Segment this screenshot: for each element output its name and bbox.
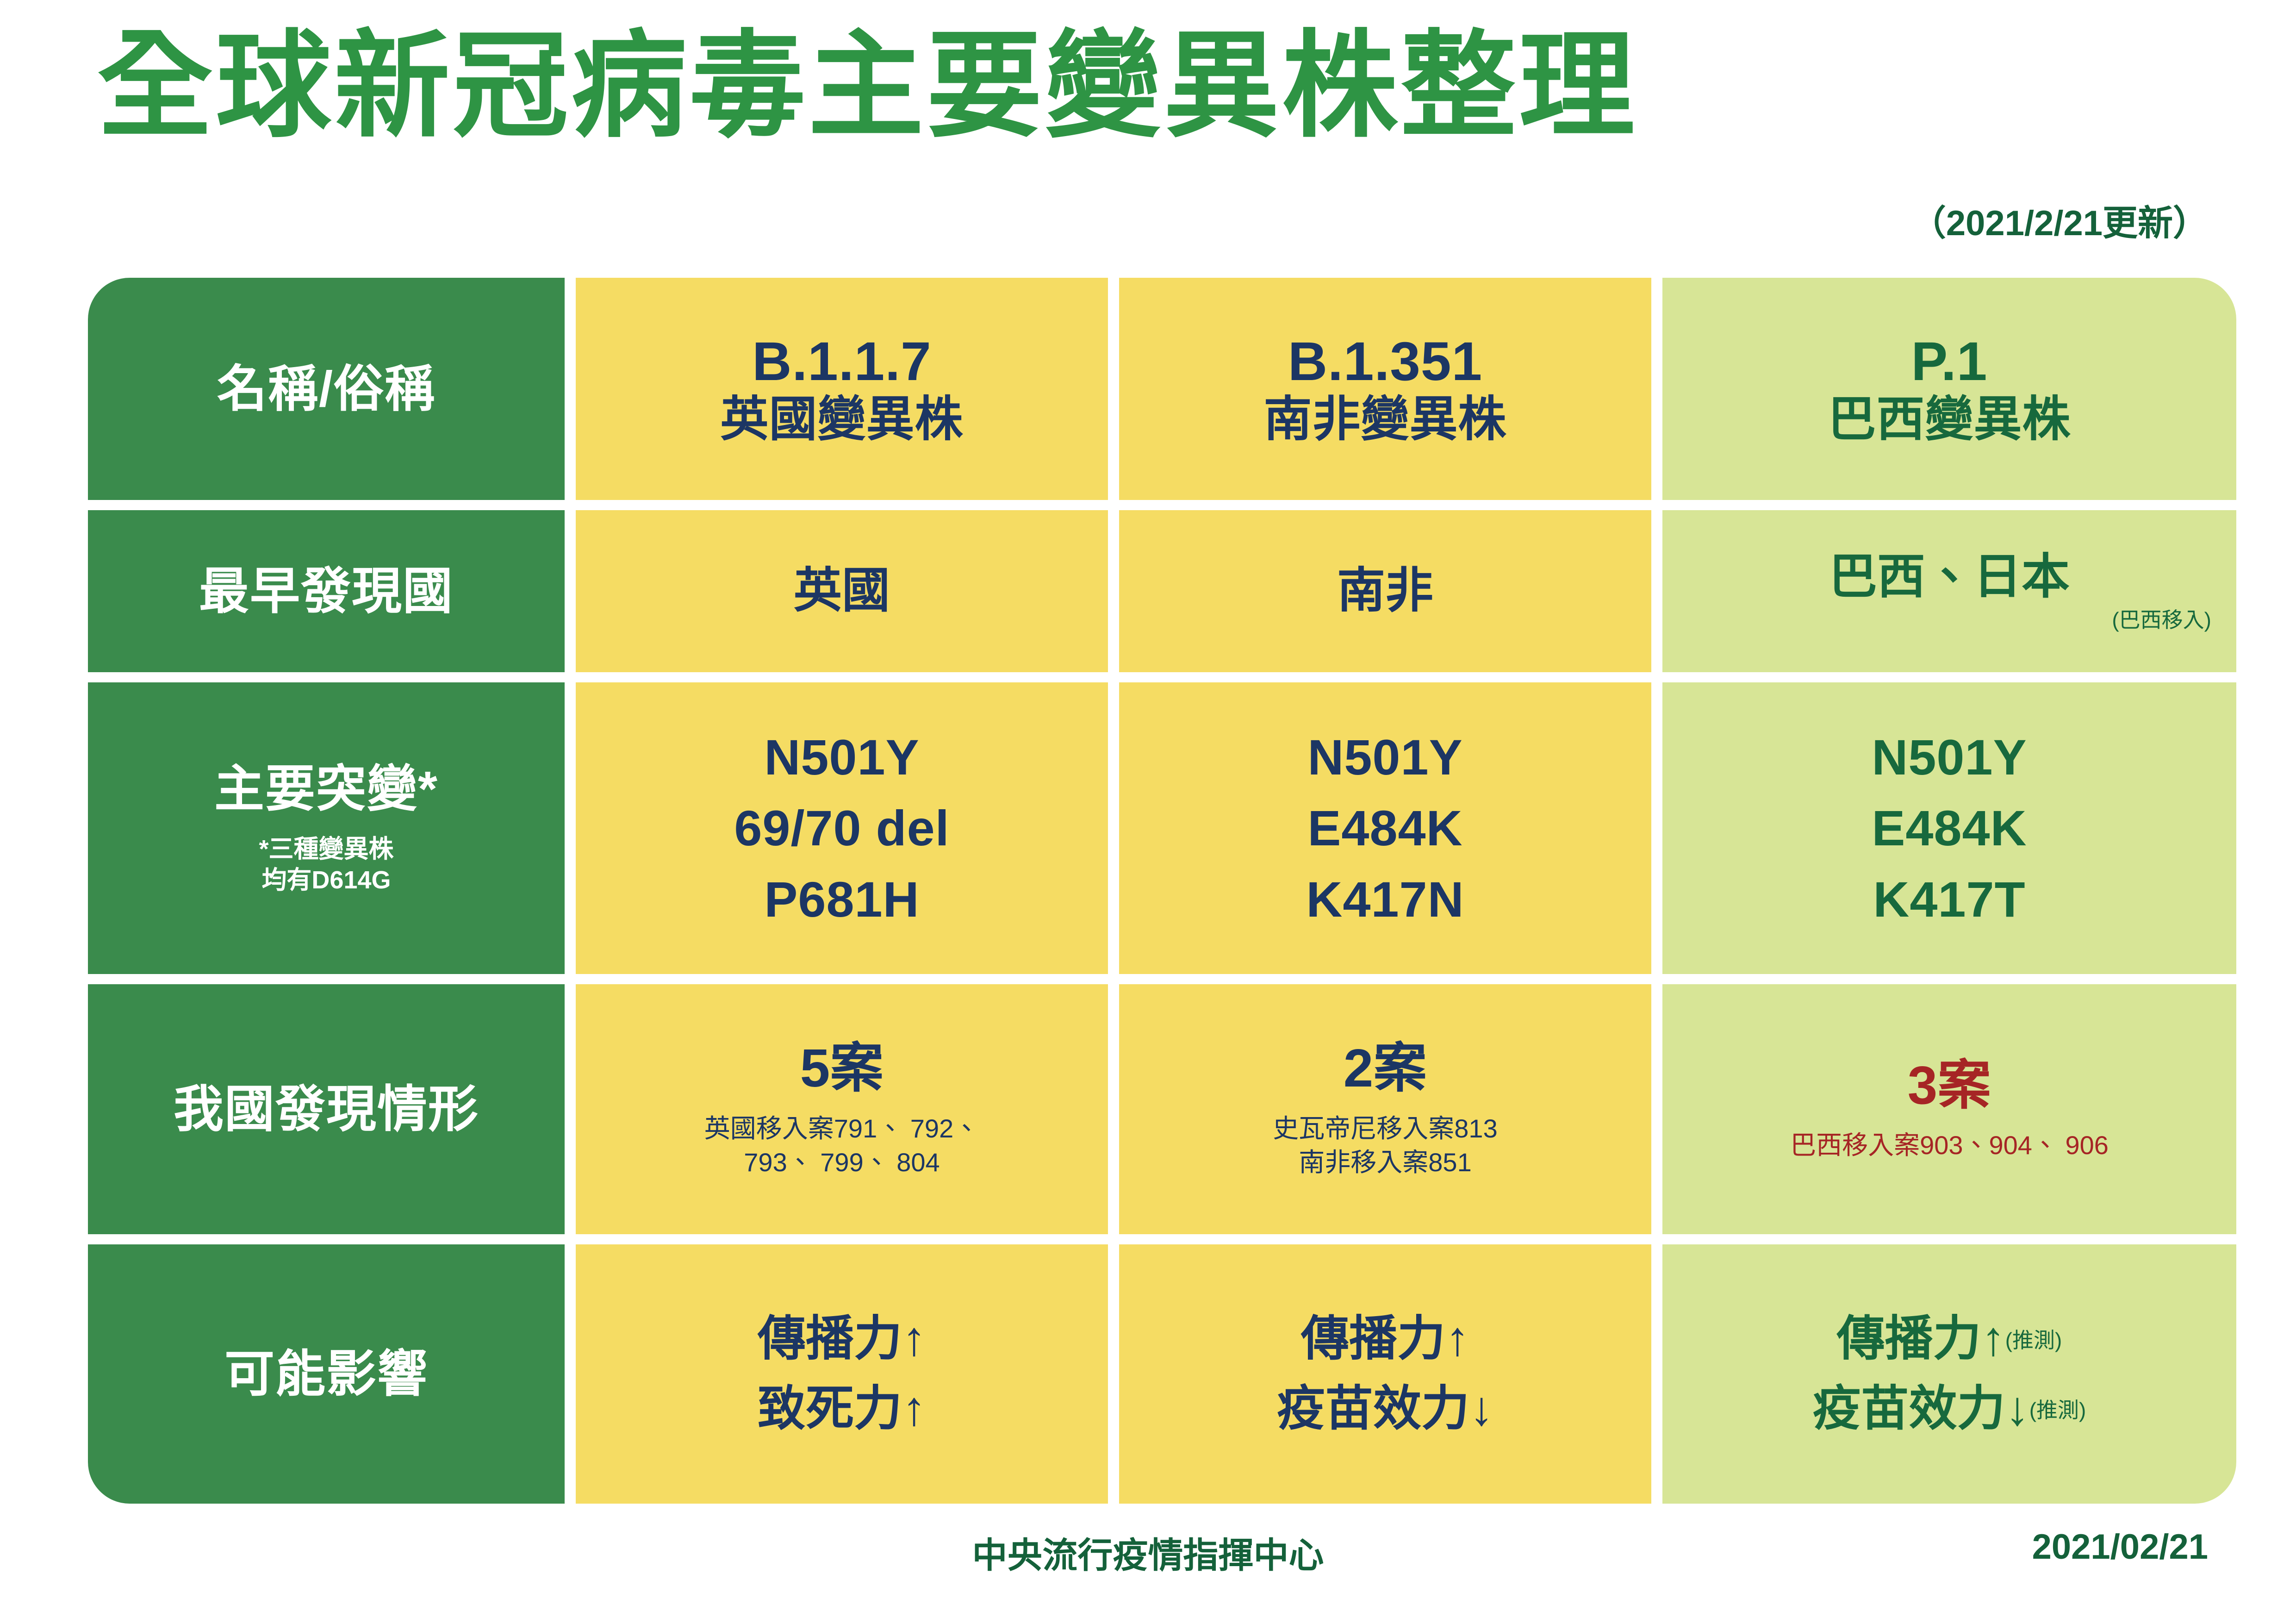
update-date-subtitle: （2021/2/21更新） (1911, 194, 2208, 245)
row-label-text: 名稱/俗稱 (217, 360, 436, 418)
row-label-impact: 可能影響 (88, 1244, 565, 1504)
issuing-organization: 中央流行疫情指揮中心 (0, 1527, 2296, 1578)
cell-mutations-b1351: N501YE484KK417N (1119, 682, 1651, 974)
cell-impact-b1351: 傳播力↑ 疫苗效力↓ (1119, 1244, 1651, 1504)
impact-line: 致死力↑ (758, 1374, 926, 1444)
arrow-up-icon: ↑ (1981, 1312, 2005, 1366)
case-count: 2案 (1344, 1039, 1427, 1098)
arrow-up-icon: ↑ (902, 1312, 926, 1366)
case-detail: 史瓦帝尼移入案813南非移入案851 (1273, 1112, 1497, 1180)
cell-impact-p1: 傳播力↑(推測) 疫苗效力↓(推測) (1662, 1244, 2236, 1504)
impact-text: 傳播力 (1837, 1312, 1981, 1366)
origin-country: 南非 (1337, 563, 1433, 619)
impact-line: 疫苗效力↓(推測) (1813, 1374, 2086, 1444)
case-detail: 英國移入案791、 792、793、 799、 804 (704, 1112, 979, 1180)
origin-country: 巴西、日本 (1829, 550, 2070, 605)
variant-alias: 英國變異株 (720, 392, 963, 447)
arrow-up-icon: ↑ (1445, 1312, 1469, 1366)
mutation-list: N501Y69/70 delP681H (734, 722, 949, 935)
impact-text: 疫苗效力 (1813, 1382, 2005, 1436)
cell-mutations-p1: N501YE484KK417T (1662, 682, 2236, 974)
infographic-page: 全球新冠病毒主要變異株整理 （2021/2/21更新） 名稱/俗稱 B.1.1.… (0, 0, 2296, 1624)
mutation-list: N501YE484KK417T (1872, 722, 2027, 935)
cell-impact-b117: 傳播力↑ 致死力↑ (576, 1244, 1108, 1504)
footer-date: 2021/02/21 (2032, 1527, 2208, 1567)
cell-cases-p1: 3案 巴西移入案903、904、 906 (1662, 984, 2236, 1234)
case-count: 3案 (1908, 1056, 1991, 1115)
variant-code: B.1.351 (1288, 331, 1482, 392)
cell-cases-b1351: 2案 史瓦帝尼移入案813南非移入案851 (1119, 984, 1651, 1234)
origin-note: (巴西移入) (2112, 607, 2211, 633)
impact-line: 傳播力↑(推測) (1837, 1304, 2062, 1374)
cell-origin-b117: 英國 (576, 510, 1108, 672)
variant-comparison-table: 名稱/俗稱 B.1.1.7 英國變異株 B.1.351 南非變異株 P.1 巴西… (88, 278, 2217, 1509)
page-title: 全球新冠病毒主要變異株整理 (97, 25, 1637, 147)
mutation-list: N501YE484KK417N (1306, 722, 1464, 935)
impact-line: 傳播力↑ (758, 1304, 926, 1374)
row-label-mutations: 主要突變* *三種變異株均有D614G (88, 682, 565, 974)
arrow-down-icon: ↓ (2005, 1382, 2029, 1436)
cell-name-b117: B.1.1.7 英國變異株 (576, 278, 1108, 500)
cell-origin-b1351: 南非 (1119, 510, 1651, 672)
row-label-text: 我國發現情形 (174, 1081, 479, 1138)
page-header: 全球新冠病毒主要變異株整理 （2021/2/21更新） (0, 0, 2296, 269)
cell-name-b1351: B.1.351 南非變異株 (1119, 278, 1651, 500)
row-label-text: 最早發現國 (199, 562, 454, 620)
impact-line: 疫苗效力↓ (1277, 1374, 1493, 1444)
case-detail: 巴西移入案903、904、 906 (1790, 1129, 2109, 1162)
cell-mutations-b117: N501Y69/70 delP681H (576, 682, 1108, 974)
row-label-text: 主要突變* (214, 760, 438, 818)
cell-name-p1: P.1 巴西變異株 (1662, 278, 2236, 500)
row-label-text: 可能影響 (224, 1345, 428, 1403)
case-count: 5案 (800, 1039, 884, 1098)
row-label-origin: 最早發現國 (88, 510, 565, 672)
impact-text: 傳播力 (758, 1312, 902, 1366)
impact-text: 致死力 (758, 1382, 902, 1436)
arrow-up-icon: ↑ (902, 1382, 926, 1436)
origin-country: 英國 (794, 563, 890, 619)
cell-origin-p1: 巴西、日本 (巴西移入) (1662, 510, 2236, 672)
arrow-down-icon: ↓ (1469, 1382, 1493, 1436)
row-label-domestic-cases: 我國發現情形 (88, 984, 565, 1234)
variant-alias: 南非變異株 (1263, 392, 1506, 447)
variant-alias: 巴西變異株 (1828, 392, 2071, 447)
impact-line: 傳播力↑ (1301, 1304, 1469, 1374)
impact-note: (推測) (2005, 1328, 2062, 1352)
row-label-name: 名稱/俗稱 (88, 278, 565, 500)
impact-text: 疫苗效力 (1277, 1382, 1469, 1436)
cell-cases-b117: 5案 英國移入案791、 792、793、 799、 804 (576, 984, 1108, 1234)
impact-text: 傳播力 (1301, 1312, 1445, 1366)
page-footer: 中央流行疫情指揮中心 2021/02/21 (0, 1523, 2296, 1611)
row-label-footnote: *三種變異株均有D614G (259, 834, 393, 896)
impact-note: (推測) (2029, 1398, 2086, 1422)
variant-code: B.1.1.7 (752, 331, 931, 392)
variant-code: P.1 (1911, 331, 1988, 392)
